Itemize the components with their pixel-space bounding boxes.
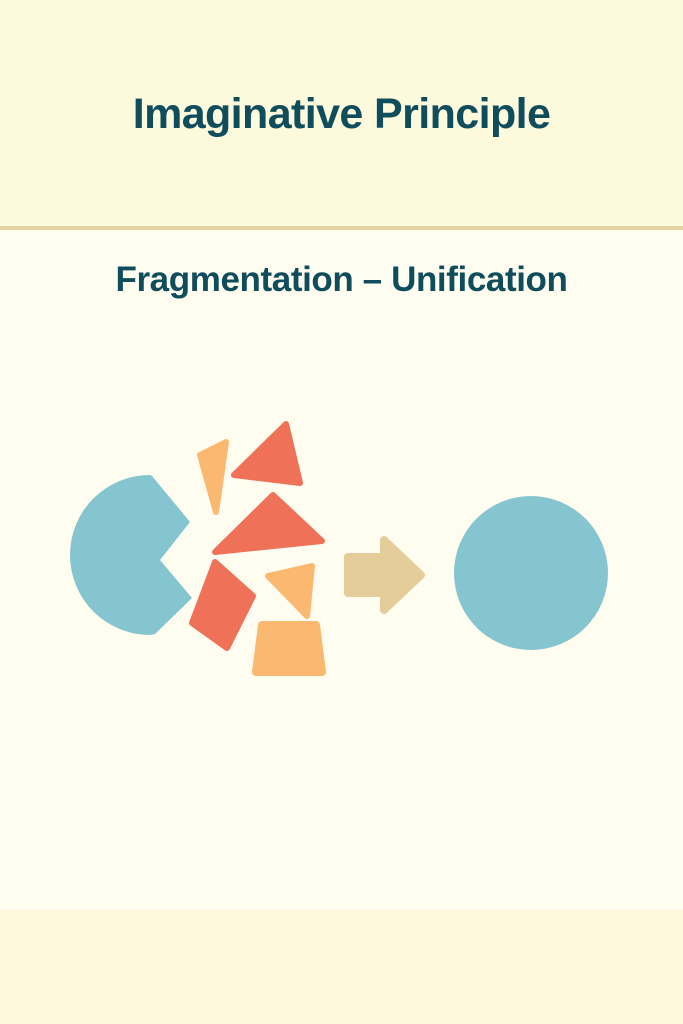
fragmented-circle-group	[70, 424, 322, 672]
page-title: Imaginative Principle	[0, 0, 683, 228]
coral-top-triangle-shape	[234, 424, 300, 483]
main-body: Fragmentation – Unification	[0, 230, 683, 910]
header-band: Imaginative Principle	[0, 0, 683, 228]
orange-right-triangle-shape	[268, 566, 312, 616]
unified-circle-shape	[454, 496, 608, 650]
footer-band	[0, 910, 683, 1024]
coral-lower-quad-shape	[192, 562, 253, 648]
orange-bottom-trapezoid-shape	[256, 625, 322, 672]
notched-circle-body-shape	[70, 475, 192, 635]
section-subtitle: Fragmentation – Unification	[0, 260, 683, 300]
transformation-arrow	[348, 540, 421, 610]
poster-page: Imaginative Principle Fragmentation – Un…	[0, 0, 683, 1024]
arrow-right-icon	[348, 540, 421, 610]
illustration-area	[0, 410, 683, 740]
orange-sliver-triangle-shape	[200, 442, 226, 512]
unified-circle-group	[454, 496, 608, 650]
coral-middle-triangle-shape	[215, 495, 322, 552]
